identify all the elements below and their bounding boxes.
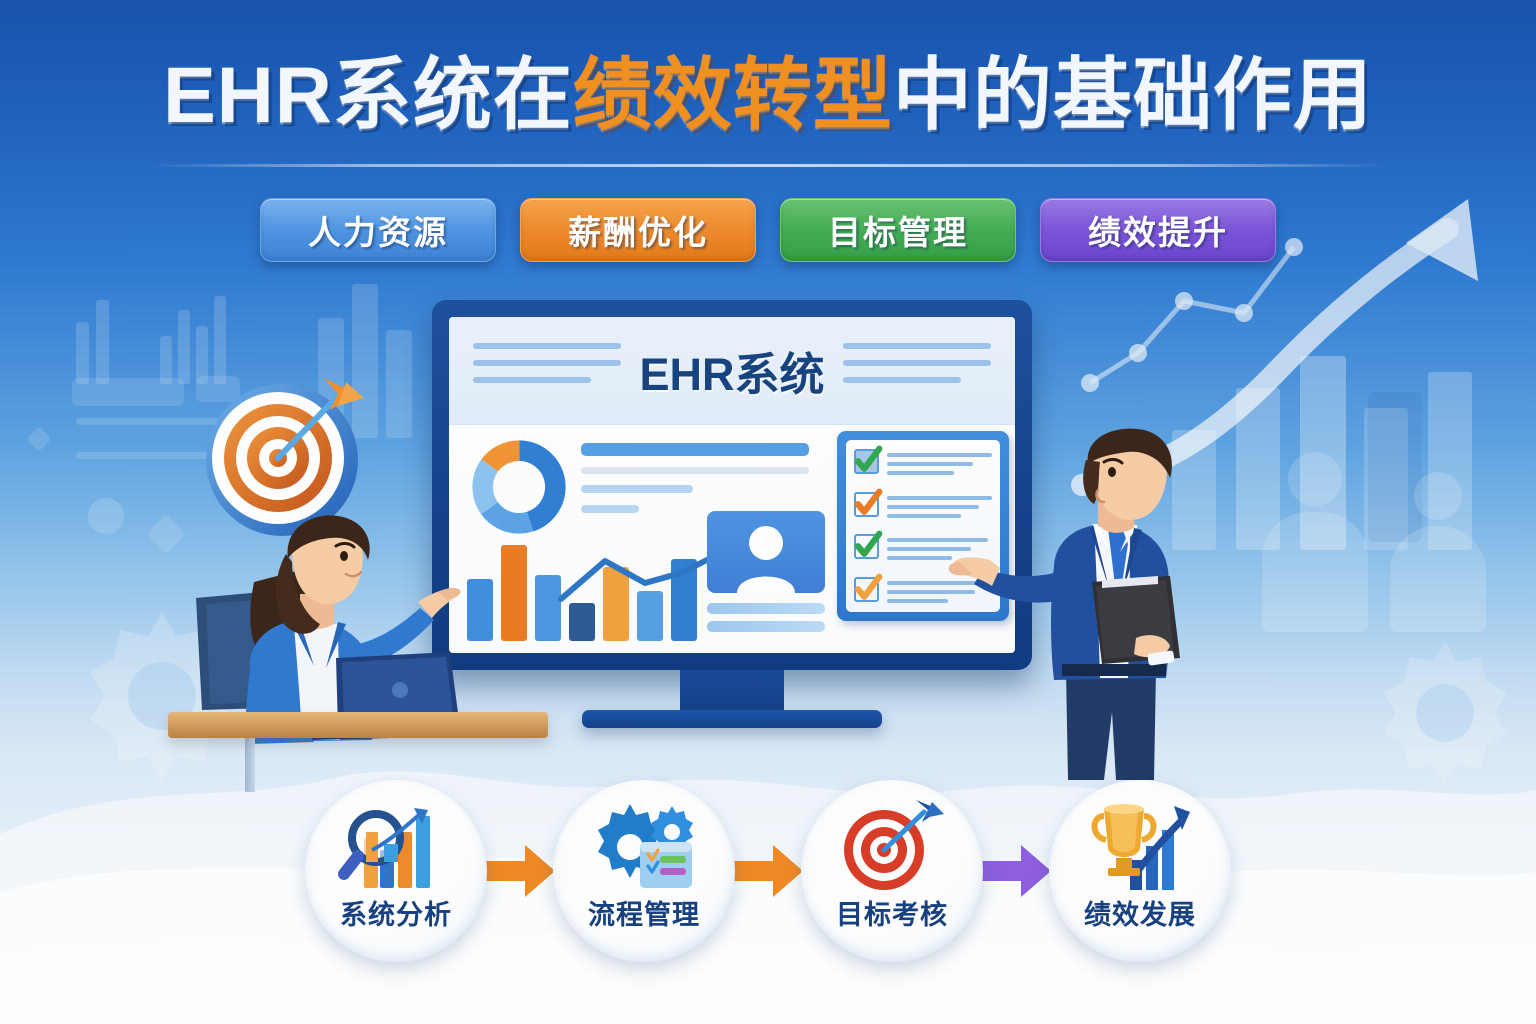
man-presenting-illustration	[958, 432, 1258, 782]
pill-compensation[interactable]: 薪酬优化	[520, 198, 756, 262]
target-dart-icon	[838, 798, 946, 898]
silhouette-head	[1414, 472, 1462, 520]
monitor-stand-base	[582, 710, 882, 728]
flow-arrow-orange-2	[731, 841, 805, 901]
checkbox-2[interactable]	[854, 492, 879, 517]
desk	[168, 712, 548, 738]
flow-step-3-label: 目标考核	[801, 893, 983, 932]
silhouette-head	[1288, 452, 1342, 506]
title-underline	[148, 164, 1388, 167]
pill-human-resources[interactable]: 人力资源	[260, 198, 496, 262]
user-card-line	[707, 603, 825, 614]
header-lines-right	[843, 343, 991, 383]
flow-step-performance-growth[interactable]: 绩效发展	[1049, 780, 1231, 962]
skeleton-line	[581, 443, 809, 456]
title-block: EHR系统在绩效转型中的基础作用	[0, 54, 1536, 137]
check-icon	[853, 445, 883, 475]
check-icon	[853, 530, 883, 560]
monitor-screen[interactable]: EHR系统	[449, 317, 1015, 653]
screen-header: EHR系统	[449, 317, 1015, 425]
skeleton-line	[581, 485, 693, 493]
screen-title: EHR系统	[639, 338, 824, 403]
infographic-canvas: EHR系统在绩效转型中的基础作用 人力资源 薪酬优化 目标管理 绩效提升	[0, 0, 1536, 1024]
magnifier-bars-icon	[342, 798, 450, 898]
pill-goal-management[interactable]: 目标管理	[780, 198, 1016, 262]
check-icon	[853, 573, 883, 603]
flow-step-process-management[interactable]: 流程管理	[553, 780, 735, 962]
flow-step-2-label: 流程管理	[553, 893, 735, 932]
flow-arrow-purple	[979, 841, 1053, 901]
trophy-growth-icon	[1086, 798, 1194, 898]
monitor-stand-neck	[680, 670, 784, 714]
process-flow: 系统分析 流程管理	[0, 766, 1536, 976]
flow-step-goal-assessment[interactable]: 目标考核	[801, 780, 983, 962]
skeleton-line	[581, 505, 639, 513]
header-lines-left	[473, 343, 621, 383]
title-part-2: 中的基础作用	[893, 50, 1373, 139]
flow-step-4-label: 绩效发展	[1049, 893, 1231, 932]
user-card-line	[707, 621, 825, 632]
page-title: EHR系统在绩效转型中的基础作用	[0, 54, 1536, 137]
title-highlight: 绩效转型	[573, 50, 893, 139]
checkbox-3[interactable]	[854, 534, 879, 559]
check-icon	[853, 488, 883, 518]
gear-checklist-icon	[590, 798, 698, 898]
dashboard-body	[449, 425, 1015, 653]
title-part-1: EHR系统在	[163, 50, 573, 139]
flow-step-1-label: 系统分析	[305, 893, 487, 932]
flow-arrow-orange-1	[483, 841, 557, 901]
flow-step-system-analysis[interactable]: 系统分析	[305, 780, 487, 962]
pill-performance-lift[interactable]: 绩效提升	[1040, 198, 1276, 262]
skeleton-line	[581, 467, 809, 474]
checkbox-4[interactable]	[854, 577, 879, 602]
category-pill-row: 人力资源 薪酬优化 目标管理 绩效提升	[0, 198, 1536, 262]
user-avatar-icon	[707, 511, 825, 593]
checkbox-1[interactable]	[854, 449, 879, 474]
